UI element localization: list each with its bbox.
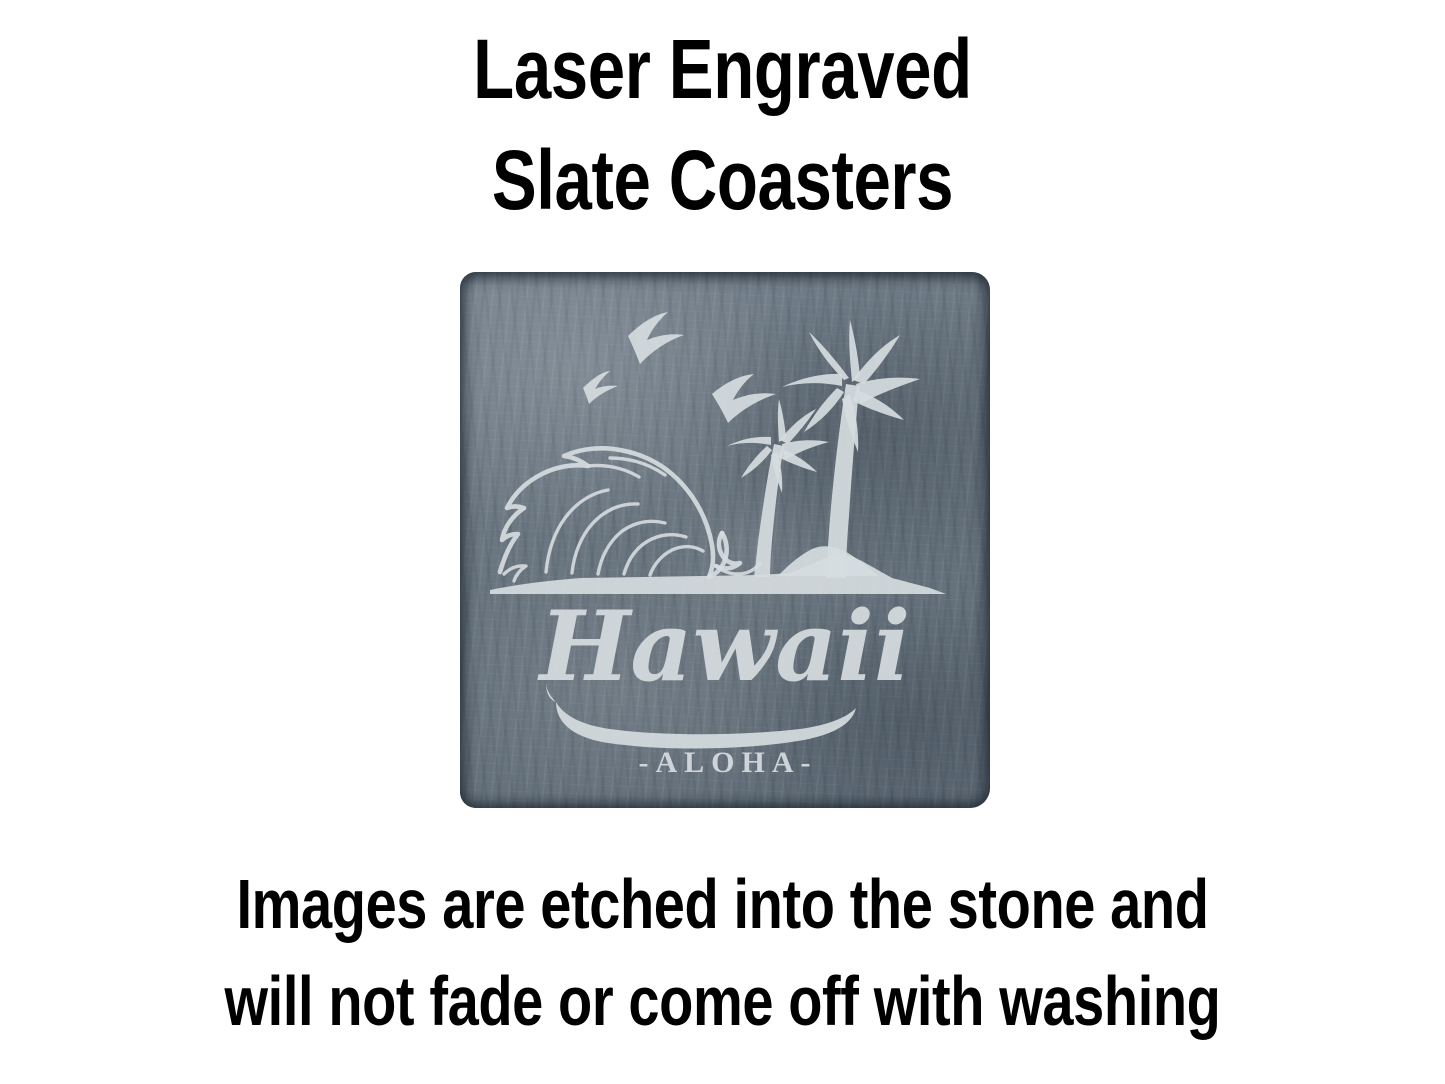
breaking-wave xyxy=(500,448,760,581)
seagull-icon xyxy=(712,374,776,423)
caption-line-2: will not fade or come off with washing xyxy=(145,953,1301,1050)
seagull-icon xyxy=(628,312,684,364)
product-image: Hawaii -ALOHA- xyxy=(460,272,990,808)
script-hawaii: Hawaii xyxy=(537,590,911,749)
caption-line-1: Images are etched into the stone and xyxy=(145,856,1301,953)
slate-coaster: Hawaii -ALOHA- xyxy=(460,272,990,808)
seagull-icon xyxy=(583,371,618,404)
tagline-aloha: -ALOHA- xyxy=(639,746,818,779)
script-hawaii-text: Hawaii xyxy=(537,590,911,703)
island-shore xyxy=(490,555,946,594)
tagline-aloha-text: -ALOHA- xyxy=(639,746,818,779)
headline-line-2: Slate Coasters xyxy=(145,125,1301,236)
product-description: Images are etched into the stone and wil… xyxy=(145,856,1301,1049)
page-title: Laser Engraved Slate Coasters xyxy=(145,14,1301,236)
headline-line-1: Laser Engraved xyxy=(145,14,1301,125)
engraved-artwork: Hawaii -ALOHA- xyxy=(460,272,990,808)
